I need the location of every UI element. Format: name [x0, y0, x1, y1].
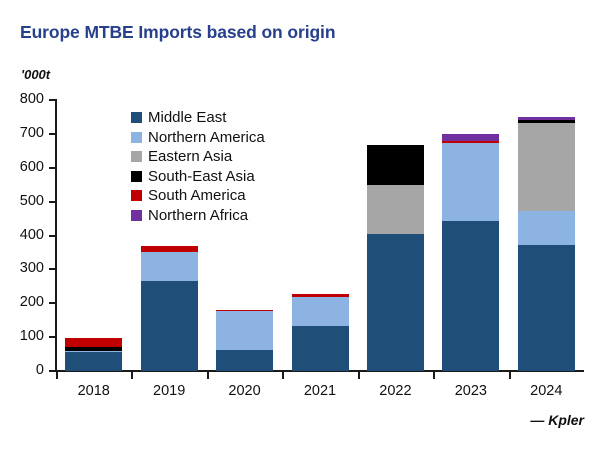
x-axis-tick-label-2022: 2022 — [360, 383, 430, 399]
y-axis-tick-label: 100 — [0, 328, 44, 344]
x-axis-tick-mark — [56, 372, 58, 379]
bar-segment[interactable] — [442, 143, 499, 221]
bar-segment[interactable] — [216, 350, 273, 371]
bar-segment[interactable] — [65, 352, 122, 371]
x-axis-tick-mark — [207, 372, 209, 379]
bar-segment[interactable] — [518, 211, 575, 245]
legend-swatch-icon — [131, 151, 142, 162]
bar-2023[interactable] — [442, 134, 499, 371]
y-axis-tick-mark — [49, 302, 56, 304]
y-axis-tick-mark — [49, 99, 56, 101]
legend-swatch-icon — [131, 132, 142, 143]
legend-item-label: South-East Asia — [148, 169, 255, 184]
x-axis-tick-label-2018: 2018 — [59, 383, 129, 399]
bar-segment[interactable] — [367, 185, 424, 234]
y-axis-tick-label: 600 — [0, 159, 44, 175]
y-axis-tick-mark — [49, 268, 56, 270]
bar-segment[interactable] — [367, 234, 424, 371]
bar-segment[interactable] — [518, 123, 575, 211]
x-axis-tick-mark — [509, 372, 511, 379]
y-axis-unit-label: '000t — [21, 67, 50, 82]
y-axis-tick-label: 400 — [0, 227, 44, 243]
legend-swatch-icon — [131, 171, 142, 182]
legend-item-label: Northern Africa — [148, 208, 248, 223]
bar-2024[interactable] — [518, 117, 575, 371]
bar-segment[interactable] — [518, 245, 575, 371]
bar-2021[interactable] — [292, 294, 349, 371]
y-axis-tick-mark — [49, 370, 56, 372]
chart-legend: Middle EastNorthern AmericaEastern AsiaS… — [131, 108, 265, 225]
x-axis-tick-label-2021: 2021 — [285, 383, 355, 399]
legend-item-eastern-asia[interactable]: Eastern Asia — [131, 147, 265, 167]
bar-2022[interactable] — [367, 145, 424, 371]
y-axis-tick-label: 700 — [0, 125, 44, 141]
legend-item-northern-africa[interactable]: Northern Africa — [131, 206, 265, 226]
bar-2020[interactable] — [216, 310, 273, 371]
bar-segment[interactable] — [141, 246, 198, 253]
legend-item-middle-east[interactable]: Middle East — [131, 108, 265, 128]
y-axis-tick-label: 0 — [0, 362, 44, 378]
bar-segment[interactable] — [141, 252, 198, 281]
y-axis-tick-label: 200 — [0, 294, 44, 310]
x-axis-tick-label-2024: 2024 — [511, 383, 581, 399]
bar-segment[interactable] — [367, 145, 424, 185]
bar-segment[interactable] — [442, 221, 499, 371]
y-axis-tick-label: 800 — [0, 91, 44, 107]
page-title: Europe MTBE Imports based on origin — [20, 22, 335, 43]
y-axis-tick-label: 500 — [0, 193, 44, 209]
chart-container: Europe MTBE Imports based on origin '000… — [0, 0, 600, 464]
y-axis-tick-mark — [49, 133, 56, 135]
y-axis-tick-label: 300 — [0, 260, 44, 276]
legend-item-northern-america[interactable]: Northern America — [131, 128, 265, 148]
y-axis-tick-mark — [49, 235, 56, 237]
x-axis-tick-mark — [131, 372, 133, 379]
x-axis-tick-mark — [433, 372, 435, 379]
bar-segment[interactable] — [65, 338, 122, 346]
legend-item-label: South America — [148, 188, 246, 203]
bar-segment[interactable] — [216, 311, 273, 350]
bar-segment[interactable] — [292, 326, 349, 371]
source-note: — Kpler — [530, 412, 584, 428]
legend-item-label: Northern America — [148, 130, 265, 145]
y-axis-tick-mark — [49, 201, 56, 203]
legend-swatch-icon — [131, 112, 142, 123]
x-axis-tick-label-2020: 2020 — [210, 383, 280, 399]
bar-2018[interactable] — [65, 338, 122, 371]
x-axis-tick-label-2019: 2019 — [134, 383, 204, 399]
x-axis-tick-mark — [358, 372, 360, 379]
y-axis-tick-mark — [49, 336, 56, 338]
bar-segment[interactable] — [292, 297, 349, 326]
legend-item-label: Eastern Asia — [148, 149, 232, 164]
y-axis-tick-mark — [49, 167, 56, 169]
x-axis-tick-mark — [282, 372, 284, 379]
legend-item-south-america[interactable]: South America — [131, 186, 265, 206]
legend-item-label: Middle East — [148, 110, 226, 125]
bar-segment[interactable] — [141, 281, 198, 371]
legend-item-south-east-asia[interactable]: South-East Asia — [131, 167, 265, 187]
legend-swatch-icon — [131, 210, 142, 221]
x-axis-tick-label-2023: 2023 — [436, 383, 506, 399]
bar-segment[interactable] — [442, 134, 499, 141]
bar-2019[interactable] — [141, 246, 198, 371]
legend-swatch-icon — [131, 190, 142, 201]
